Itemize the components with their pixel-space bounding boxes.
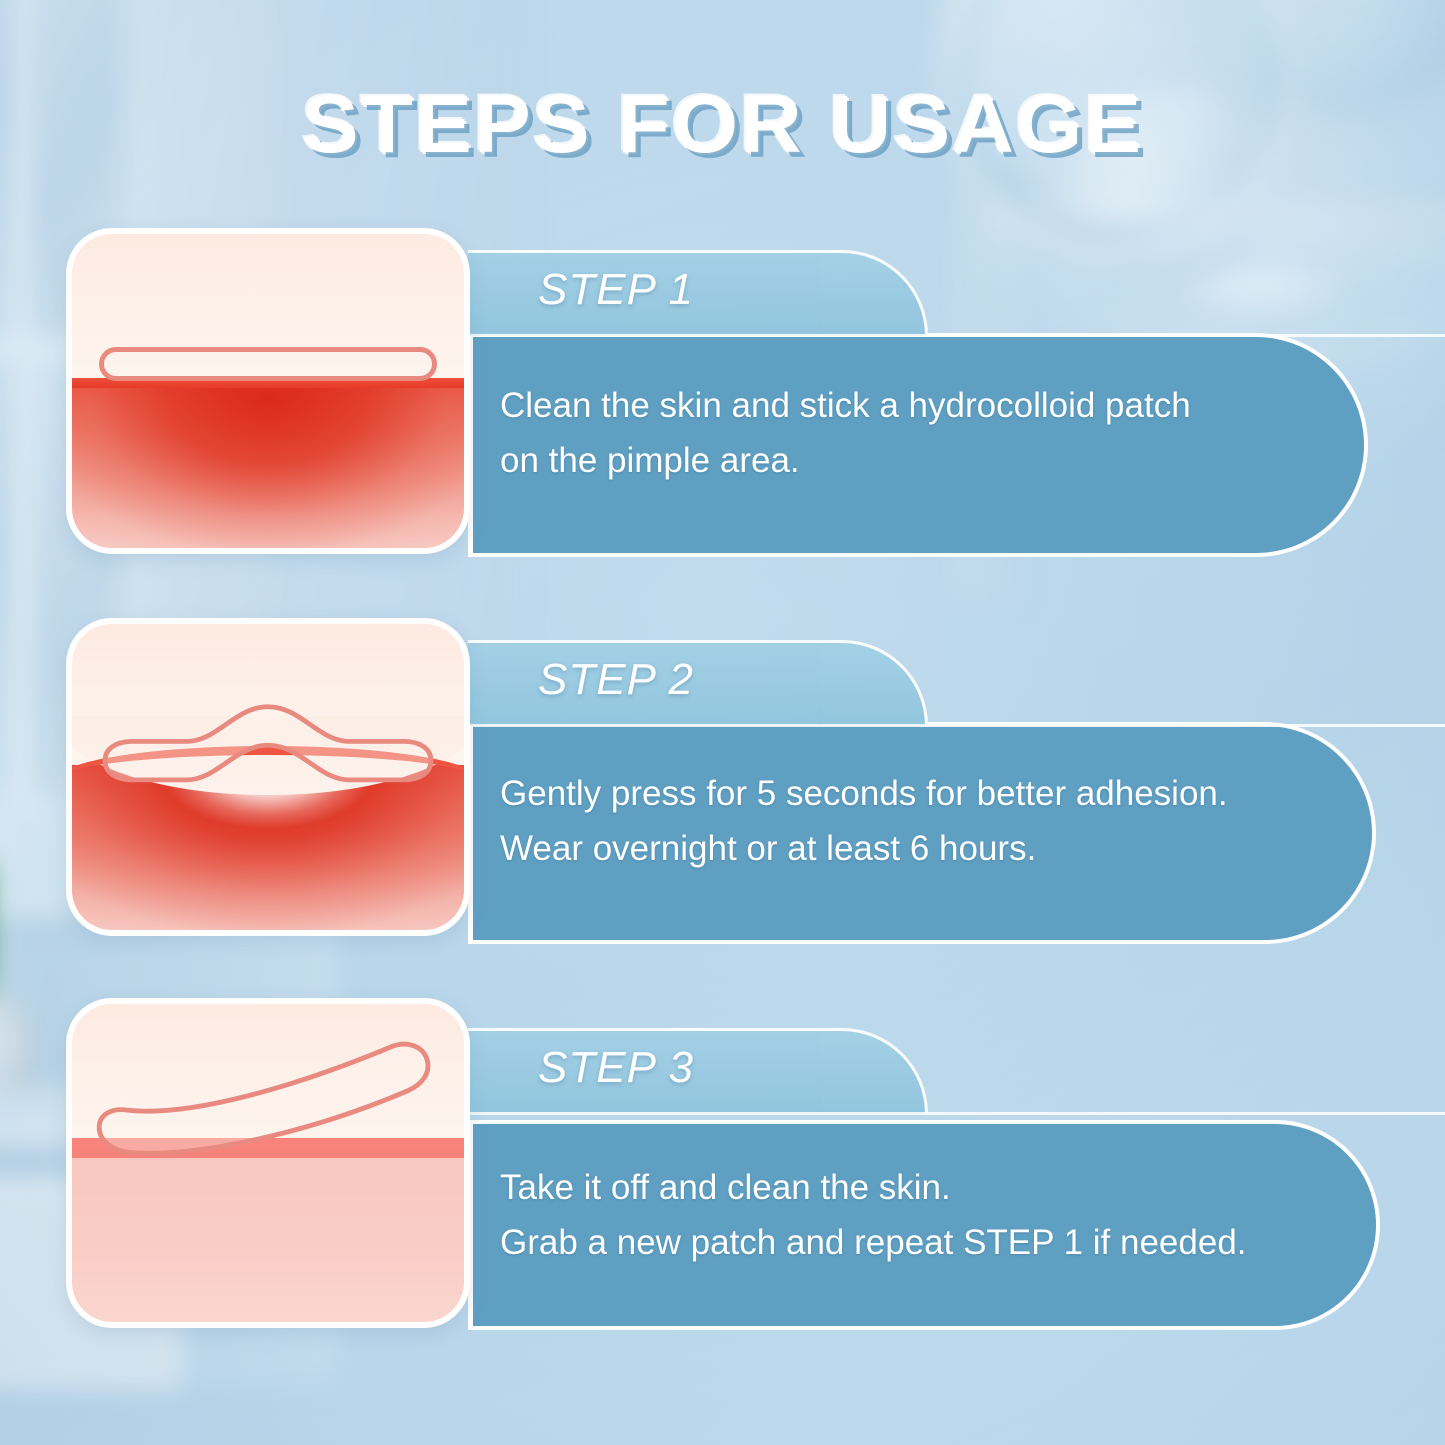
step-illustration-card [66,618,470,936]
step-body-text: Clean the skin and stick a hydrocolloid … [500,378,1350,489]
step-row: STEP 1 Clean the skin and stick a hydroc… [0,228,1445,558]
step-row: STEP 2 Gently press for 5 seconds for be… [0,618,1445,938]
usage-steps-infographic: STEPS FOR USAGE STEP 1 Clean the skin an… [0,0,1445,1445]
step-tab-base-rule [468,1112,1445,1115]
step-tab-base-rule [468,724,1445,727]
step-tab-label: STEP 2 [538,655,694,705]
step-tab-rounded-cap [818,250,928,336]
step-tab-top-rule [468,1028,820,1031]
step-row: STEP 3 Take it off and clean the skin. G… [0,998,1445,1330]
hydrocolloid-patch-flat [99,347,436,381]
step-tab-top-rule [468,640,820,643]
step-tab-label: STEP 1 [538,265,694,315]
hydrocolloid-patch-peeling [72,1004,464,1322]
step-body-text: Gently press for 5 seconds for better ad… [500,766,1370,877]
step-tab-rounded-cap [818,1028,928,1114]
step-tab-top-rule [468,250,820,253]
step-illustration-card [66,998,470,1328]
step-tab-base-rule [468,334,1445,337]
step-tab-label: STEP 3 [538,1043,694,1093]
step-illustration-card [66,228,470,554]
inflamed-skin-layer [72,378,464,548]
step-body-text: Take it off and clean the skin. Grab a n… [500,1160,1370,1271]
page-title: STEPS FOR USAGE [0,78,1445,172]
hydrocolloid-patch-bumped [72,624,464,930]
step-tab-rounded-cap [818,640,928,726]
